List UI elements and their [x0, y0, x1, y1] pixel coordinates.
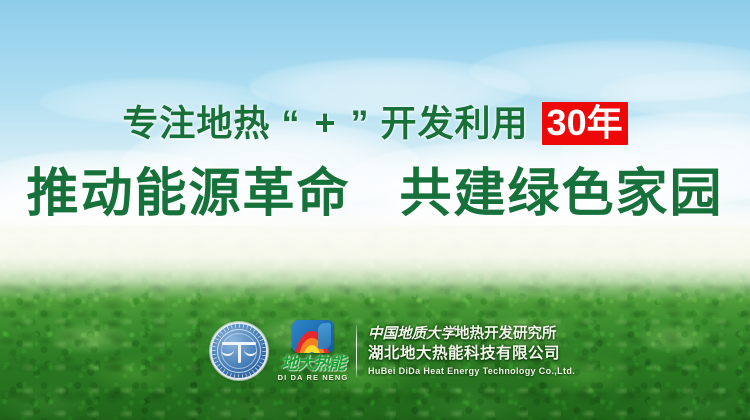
headline-line2-part2: 共建绿色家园: [399, 165, 723, 223]
footer-divider: [356, 325, 357, 377]
plus-glyph: +: [311, 102, 339, 143]
org-institute-line: 中国地质大学地热开发研究所: [368, 325, 575, 344]
emblem-right-wing: [244, 348, 257, 356]
headline-line-2: 推动能源革命 共建绿色家园: [0, 164, 750, 224]
emblem-stem: [238, 342, 241, 363]
headline-line1-prefix: 专注地热: [122, 102, 270, 143]
anniversary-badge: 30年: [542, 102, 628, 145]
quote-close-glyph: ”: [351, 102, 370, 143]
headline-line-1: 专注地热 “ + ” 开发利用 30年: [0, 100, 750, 145]
org-institute-brush-part: 中国地质大学: [368, 326, 455, 342]
emblem-left-wing: [221, 348, 234, 356]
quote-open-glyph: “: [281, 102, 300, 143]
org-company-cn-line: 湖北地大热能科技有限公司: [368, 344, 575, 364]
promotional-banner: 专注地热 “ + ” 开发利用 30年 推动能源革命 共建绿色家园: [0, 0, 750, 420]
org-company-en-line: HuBei DiDa Heat Energy Technology Co.,Lt…: [368, 364, 575, 378]
headline-line1-suffix: 开发利用: [381, 102, 529, 143]
footer-branding: 地大热能 DI DA RE NENG 中国地质大学地热开发研究所 湖北地大热能科…: [210, 316, 546, 386]
organization-text-block: 中国地质大学地热开发研究所 湖北地大热能科技有限公司 HuBei DiDa He…: [368, 325, 575, 378]
org-institute-rest-part: 地热开发研究所: [455, 326, 557, 342]
dida-rainbow-logo-icon: [292, 320, 334, 353]
university-seal-icon: [210, 322, 268, 380]
dida-logo-pinyin: DI DA RE NENG: [278, 373, 349, 383]
headline-line2-part1: 推动能源革命: [27, 165, 351, 223]
seal-emblem: [222, 339, 256, 363]
dida-logo: 地大热能 DI DA RE NENG: [276, 319, 350, 383]
logo-blade-shape: [318, 323, 331, 349]
dida-logo-cn-text: 地大热能: [281, 355, 345, 373]
